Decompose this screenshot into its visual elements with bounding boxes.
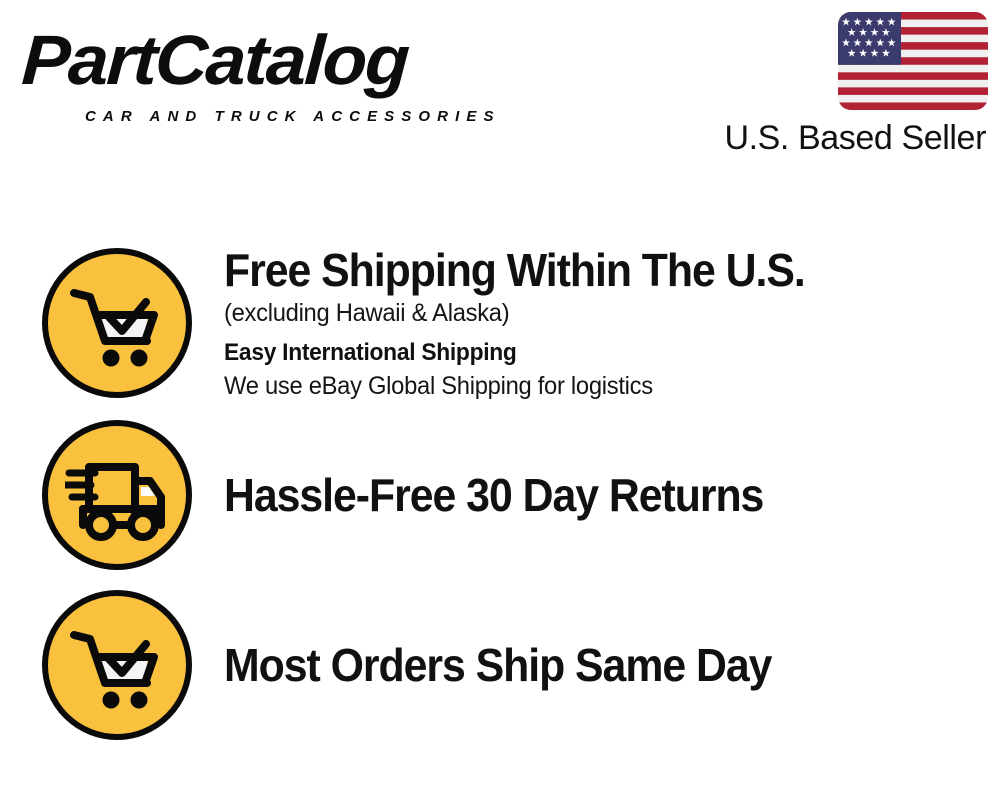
brand-logo: PartCatalog CAR AND TRUCK ACCESSORIES: [22, 22, 492, 114]
us-flag-icon: [838, 12, 988, 110]
feature-text: Free Shipping Within The U.S. (excluding…: [224, 243, 1000, 403]
feature-text: Most Orders Ship Same Day: [224, 638, 1000, 692]
brand-wordmark: PartCatalog: [20, 18, 410, 102]
page-header: PartCatalog CAR AND TRUCK ACCESSORIES: [0, 0, 1000, 180]
feature-subheading: Easy International Shipping: [224, 336, 942, 370]
feature-text: Hassle-Free 30 Day Returns: [224, 468, 1000, 522]
feature-title: Most Orders Ship Same Day: [224, 638, 927, 692]
feature-title: Free Shipping Within The U.S.: [224, 243, 927, 297]
feature-row: Free Shipping Within The U.S. (excluding…: [0, 248, 1000, 398]
feature-subtext: We use eBay Global Shipping for logistic…: [224, 370, 942, 403]
shopping-cart-check-icon: [42, 590, 192, 740]
feature-title: Hassle-Free 30 Day Returns: [224, 468, 927, 522]
delivery-truck-icon: [42, 420, 192, 570]
us-based-seller-label: U.S. Based Seller: [724, 118, 986, 158]
feature-row: Hassle-Free 30 Day Returns: [0, 420, 1000, 570]
feature-row: Most Orders Ship Same Day: [0, 590, 1000, 740]
feature-note: (excluding Hawaii & Alaska): [224, 297, 942, 330]
brand-tagline: CAR AND TRUCK ACCESSORIES: [85, 108, 501, 126]
shopping-cart-check-icon: [42, 248, 192, 398]
